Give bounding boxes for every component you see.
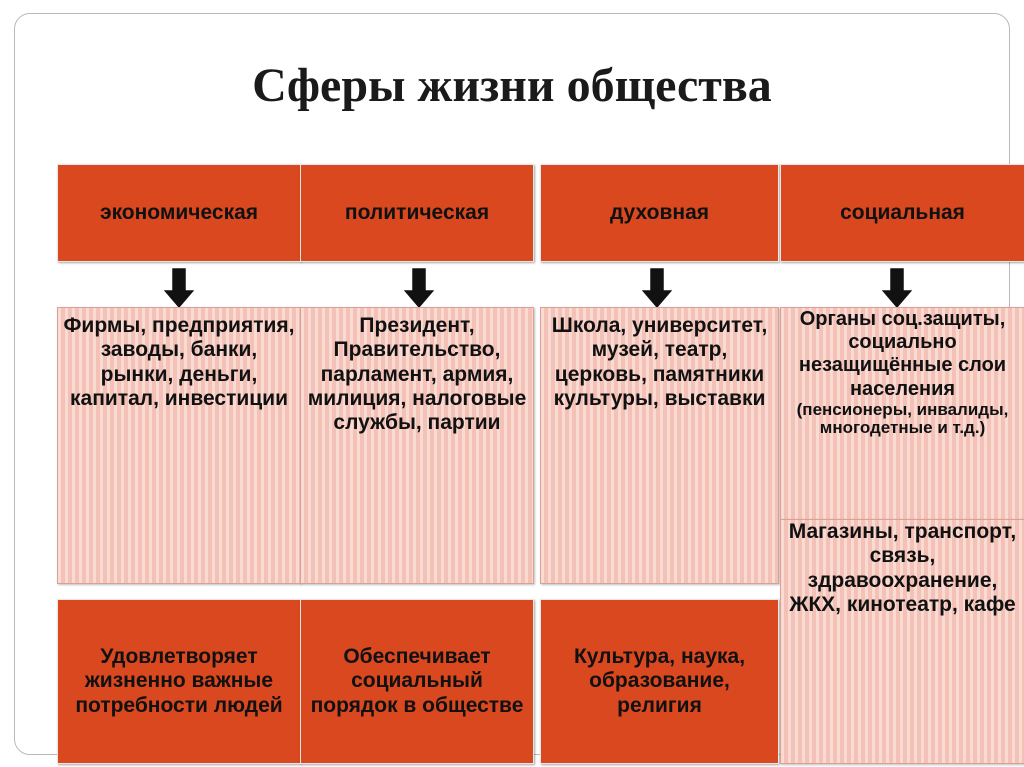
- sphere-function-social: Магазины, транспорт, связь, здравоохране…: [780, 519, 1024, 764]
- page-title: Сферы жизни общества: [15, 62, 1009, 110]
- sphere-items-social-main: Органы соц.защиты, социально незащищённы…: [785, 308, 1020, 401]
- down-arrow-icon: [877, 267, 917, 311]
- sphere-items-economic: Фирмы, предприятия, заводы, банки, рынки…: [57, 307, 301, 584]
- sphere-items-political: Президент, Правительство, парламент, арм…: [300, 307, 534, 584]
- sphere-items-social-note: (пенсионеры, инвалиды, многодетные и т.д…: [785, 401, 1020, 438]
- sphere-header-economic[interactable]: экономическая: [57, 164, 301, 262]
- down-arrow-icon: [159, 267, 199, 311]
- sphere-function-economic: Удовлетворяет жизненно важные потребност…: [57, 599, 301, 764]
- sphere-items-social: Органы соц.защиты, социально незащищённы…: [780, 307, 1024, 522]
- sphere-function-political: Обеспечивает социальный порядок в общест…: [300, 599, 534, 764]
- down-arrow-icon: [399, 267, 439, 311]
- sphere-items-spiritual: Школа, университет, музей, театр, церков…: [540, 307, 779, 584]
- sphere-header-spiritual[interactable]: духовная: [540, 164, 779, 262]
- sphere-header-political[interactable]: политическая: [300, 164, 534, 262]
- slide-frame: Сферы жизни общества экономическая полит…: [14, 13, 1010, 755]
- sphere-header-social[interactable]: социальная: [780, 164, 1024, 262]
- sphere-function-spiritual: Культура, наука, образование, религия: [540, 599, 779, 764]
- down-arrow-icon: [637, 267, 677, 311]
